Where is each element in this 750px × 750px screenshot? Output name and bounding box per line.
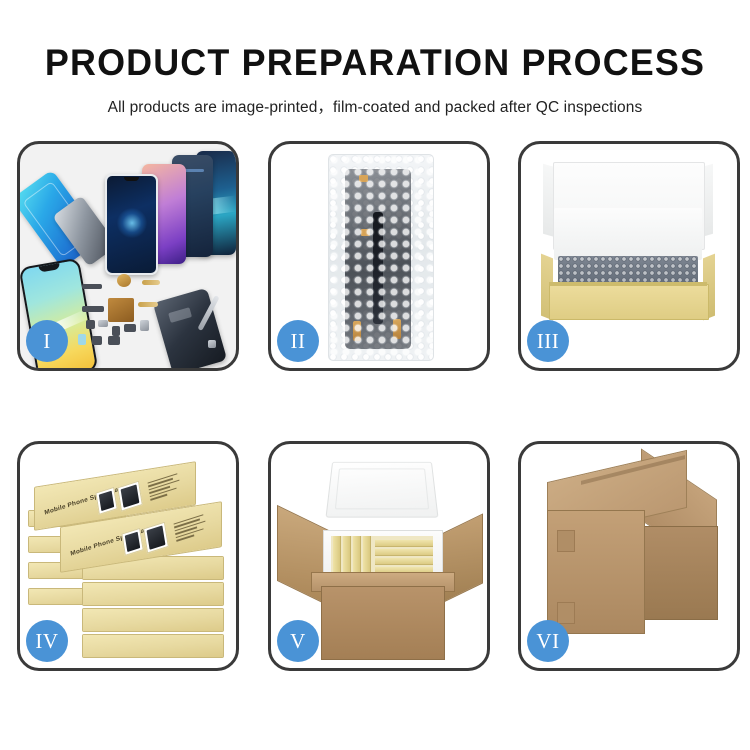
tape-dot-1-icon [359,175,368,182]
step-panel-2[interactable]: II [268,141,490,371]
carton-tape-upper-icon [557,530,575,552]
vibrator-part-icon [124,324,136,332]
carton-side-icon [642,526,718,620]
tape-dot-2-icon [361,229,370,236]
foam-box-lid-icon [325,462,438,518]
stacked-box-r3 [82,608,224,632]
white-foam-sheet-icon [554,208,702,260]
bracket-part-icon [82,306,104,312]
cable-strip-icon [373,212,383,324]
inner-box-flat-1 [375,540,433,547]
process-steps-grid: I II [0,138,750,698]
camera-module-icon [112,326,120,336]
carton-body-icon [321,586,445,660]
box-rim-icon [549,282,707,286]
step-badge-1: I [26,320,68,362]
header: PRODUCT PREPARATION PROCESS All products… [0,0,750,117]
speaker-part-icon [117,274,131,287]
sim-tray-icon [140,320,149,331]
step-panel-5[interactable]: V [268,441,490,671]
step-badge-3: III [527,320,569,362]
connector-left-icon [353,321,361,341]
metal-clip-icon [98,320,108,327]
step-panel-4[interactable]: Mobile Phone Spare Parts Mobile Phone [17,441,239,671]
stacked-box-r2 [82,582,224,606]
connector-part-icon [108,336,120,345]
step-badge-4: IV [26,620,68,662]
step-panel-3[interactable]: III [518,141,740,371]
panel-frame-6: VI [518,441,740,671]
inner-box-flat-2 [375,549,433,556]
panel-frame-2: II [268,141,490,371]
page-title: PRODUCT PREPARATION PROCESS [11,44,739,81]
panel-frame-4: Mobile Phone Spare Parts Mobile Phone [17,441,239,671]
small-chip-icon [86,320,95,329]
box-front-panel-icon [549,284,709,320]
step-panel-6[interactable]: VI [518,441,740,671]
step-panel-1[interactable]: I [17,141,239,371]
button-part-icon [92,336,102,345]
panel-frame-1: I [17,141,239,371]
glass-piece-icon [78,334,86,345]
phone-black-screen-icon [105,174,158,275]
wrapped-lcd-part-icon [345,169,411,349]
step-badge-5: V [277,620,319,662]
circuit-board-icon [108,298,134,322]
panel-frame-3: III [518,141,740,371]
panel-frame-5: V [268,441,490,671]
bubble-wrap-bag-icon [328,154,434,361]
connector-right-icon [393,319,401,339]
screw-part-icon [208,340,216,348]
earpiece-part-icon [82,284,102,289]
flex-cable-2-icon [138,302,158,307]
carton-tape-lower-icon [557,602,575,624]
page-subtitle: All products are image-printed，film-coat… [0,95,750,117]
stacked-box-r4 [82,634,224,658]
flex-cable-icon [142,280,160,285]
step-badge-2: II [277,320,319,362]
product-preparation-infographic: PRODUCT PREPARATION PROCESS All products… [0,0,750,750]
inner-box-flat-3 [375,558,433,565]
step-badge-6: VI [527,620,569,662]
